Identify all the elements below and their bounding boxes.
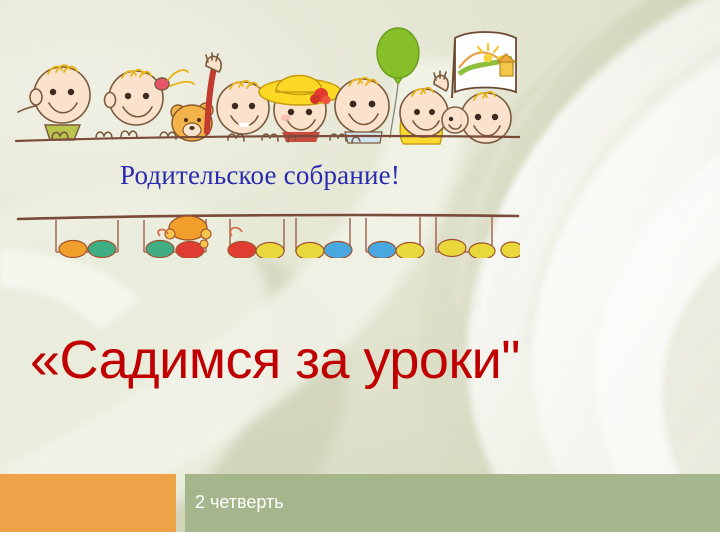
- bottom-white-strip: [0, 532, 720, 540]
- presentation-slide: .sk { fill:#fbe2cd; stroke:#7a5a3c; stro…: [0, 0, 720, 540]
- drawing-flag: [452, 32, 516, 98]
- header-caption: Родительское собрание!: [0, 160, 520, 191]
- child-figure-8: [442, 107, 468, 133]
- footer-subtitle: 2 четверть: [195, 492, 284, 513]
- children-illustration: .sk { fill:#fbe2cd; stroke:#7a5a3c; stro…: [0, 0, 520, 258]
- page-title: «Садимся за уроки": [30, 332, 700, 389]
- footer-accent-block: [0, 474, 176, 532]
